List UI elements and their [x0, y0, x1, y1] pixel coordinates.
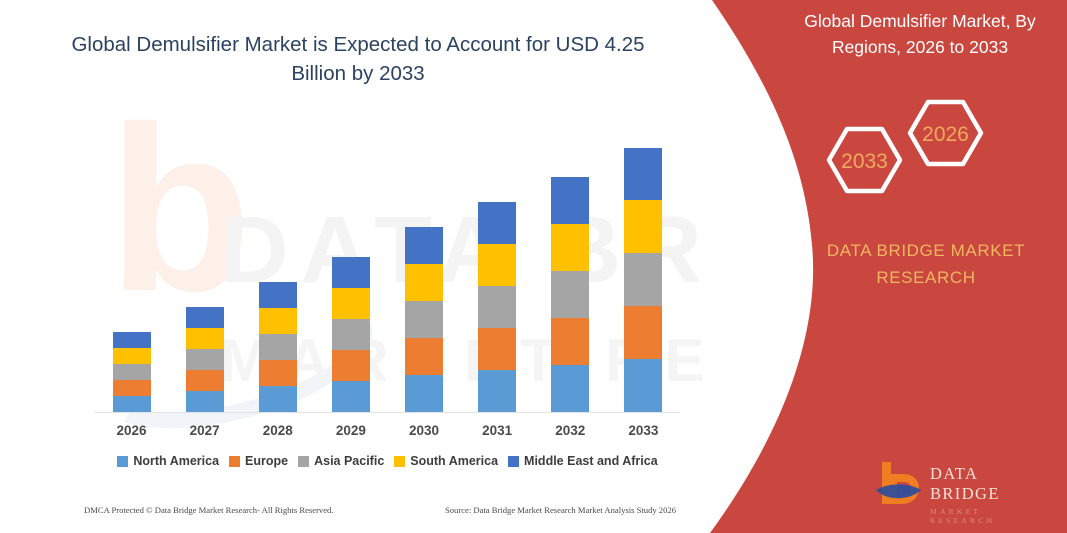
- x-axis-tick: 2028: [242, 423, 314, 438]
- stacked-bar: [551, 177, 589, 412]
- bar-segment: [186, 391, 224, 412]
- bar-segment: [259, 386, 297, 412]
- bar-segment: [113, 364, 151, 380]
- svg-text:2026: 2026: [922, 123, 969, 146]
- x-axis-tick: 2030: [388, 423, 460, 438]
- chart-pane: b DATA BRIDGE MARKET RESEARCH Global Dem…: [0, 0, 712, 533]
- bar-segment: [624, 200, 662, 253]
- footer-source: Source: Data Bridge Market Research Mark…: [445, 505, 676, 515]
- bar-segment: [624, 253, 662, 306]
- svg-text:2033: 2033: [841, 150, 888, 173]
- footer: DMCA Protected © Data Bridge Market Rese…: [84, 505, 684, 515]
- legend-item[interactable]: North America: [117, 454, 219, 468]
- bar-segment: [551, 318, 589, 365]
- brand-panel: Global Demulsifier Market, By Regions, 2…: [690, 0, 1067, 533]
- stacked-bar: [624, 148, 662, 412]
- chart-baseline: [95, 412, 680, 413]
- bar-segment: [405, 301, 443, 338]
- legend-swatch-icon: [117, 456, 128, 467]
- bar-segment: [259, 360, 297, 386]
- bar-segment: [186, 349, 224, 370]
- stacked-bar: [186, 307, 224, 412]
- bar-segment: [624, 306, 662, 359]
- hexagon-group: 2026 2033: [795, 85, 1055, 215]
- bar-segment: [551, 365, 589, 412]
- bar-segment: [551, 224, 589, 271]
- x-axis-tick: 2029: [315, 423, 387, 438]
- chart-title: Global Demulsifier Market is Expected to…: [60, 30, 656, 88]
- bar-segment: [551, 177, 589, 224]
- stacked-bar: [332, 257, 370, 412]
- hexagon-2026: 2026: [910, 102, 981, 164]
- bar-segment: [478, 286, 516, 328]
- stacked-bar: [113, 332, 151, 412]
- legend-item[interactable]: Middle East and Africa: [508, 454, 658, 468]
- hexagon-2033: 2033: [829, 129, 900, 191]
- legend-item[interactable]: South America: [394, 454, 498, 468]
- x-axis-tick: 2026: [96, 423, 168, 438]
- x-axis-tick: 2031: [461, 423, 533, 438]
- bar-column: [242, 282, 314, 412]
- bar-segment: [405, 227, 443, 264]
- bar-segment: [113, 380, 151, 396]
- bar-segment: [113, 396, 151, 412]
- bar-segment: [332, 319, 370, 350]
- x-axis-labels: 20262027202820292030203120322033: [95, 418, 680, 442]
- logo-line2: MARKET RESEARCH: [930, 507, 1042, 525]
- logo-line1: DATA BRIDGE: [930, 464, 1042, 504]
- bar-column: [315, 257, 387, 412]
- legend-swatch-icon: [508, 456, 519, 467]
- bar-segment: [113, 348, 151, 364]
- stacked-bar: [405, 227, 443, 412]
- legend-label: South America: [410, 454, 498, 468]
- legend-label: Asia Pacific: [314, 454, 384, 468]
- stacked-bar: [259, 282, 297, 412]
- bar-column: [169, 307, 241, 412]
- legend-swatch-icon: [394, 456, 405, 467]
- company-logo: DATA BRIDGE MARKET RESEARCH: [872, 458, 1042, 510]
- bar-segment: [478, 370, 516, 412]
- bar-segment: [478, 244, 516, 286]
- x-axis-tick: 2032: [534, 423, 606, 438]
- stacked-bar: [478, 202, 516, 412]
- x-axis-tick: 2033: [607, 423, 679, 438]
- stacked-bar-group: [95, 140, 680, 412]
- panel-title: Global Demulsifier Market, By Regions, 2…: [783, 8, 1057, 60]
- chart-plot-area: [95, 140, 680, 413]
- bar-column: [96, 332, 168, 412]
- logo-text: DATA BRIDGE MARKET RESEARCH: [930, 464, 1042, 525]
- bar-segment: [332, 350, 370, 381]
- legend-label: Europe: [245, 454, 288, 468]
- bar-column: [461, 202, 533, 412]
- bar-segment: [478, 328, 516, 370]
- legend-swatch-icon: [298, 456, 309, 467]
- infographic-root: b DATA BRIDGE MARKET RESEARCH Global Dem…: [0, 0, 1067, 533]
- legend-item[interactable]: Europe: [229, 454, 288, 468]
- x-axis-tick: 2027: [169, 423, 241, 438]
- bar-segment: [478, 202, 516, 244]
- bar-segment: [624, 148, 662, 200]
- bar-segment: [332, 288, 370, 319]
- bar-segment: [551, 271, 589, 318]
- bar-segment: [405, 264, 443, 301]
- bar-column: [607, 148, 679, 412]
- bar-segment: [259, 282, 297, 308]
- brand-name: DATA BRIDGE MARKET RESEARCH: [810, 237, 1042, 291]
- legend-label: North America: [133, 454, 219, 468]
- legend-swatch-icon: [229, 456, 240, 467]
- bar-segment: [405, 375, 443, 412]
- chart-legend: North AmericaEuropeAsia PacificSouth Ame…: [95, 454, 680, 468]
- bar-segment: [405, 338, 443, 375]
- footer-copyright: DMCA Protected © Data Bridge Market Rese…: [84, 505, 334, 515]
- legend-label: Middle East and Africa: [524, 454, 658, 468]
- logo-mark-icon: [872, 460, 924, 508]
- bar-segment: [113, 332, 151, 348]
- bar-segment: [259, 308, 297, 334]
- legend-item[interactable]: Asia Pacific: [298, 454, 384, 468]
- bar-segment: [186, 307, 224, 328]
- bar-column: [388, 227, 460, 412]
- bar-column: [534, 177, 606, 412]
- bar-segment: [186, 370, 224, 391]
- brand-panel-content: Global Demulsifier Market, By Regions, 2…: [690, 0, 1067, 533]
- bar-segment: [186, 328, 224, 349]
- bar-segment: [332, 381, 370, 412]
- bar-segment: [259, 334, 297, 360]
- bar-segment: [624, 359, 662, 412]
- bar-segment: [332, 257, 370, 288]
